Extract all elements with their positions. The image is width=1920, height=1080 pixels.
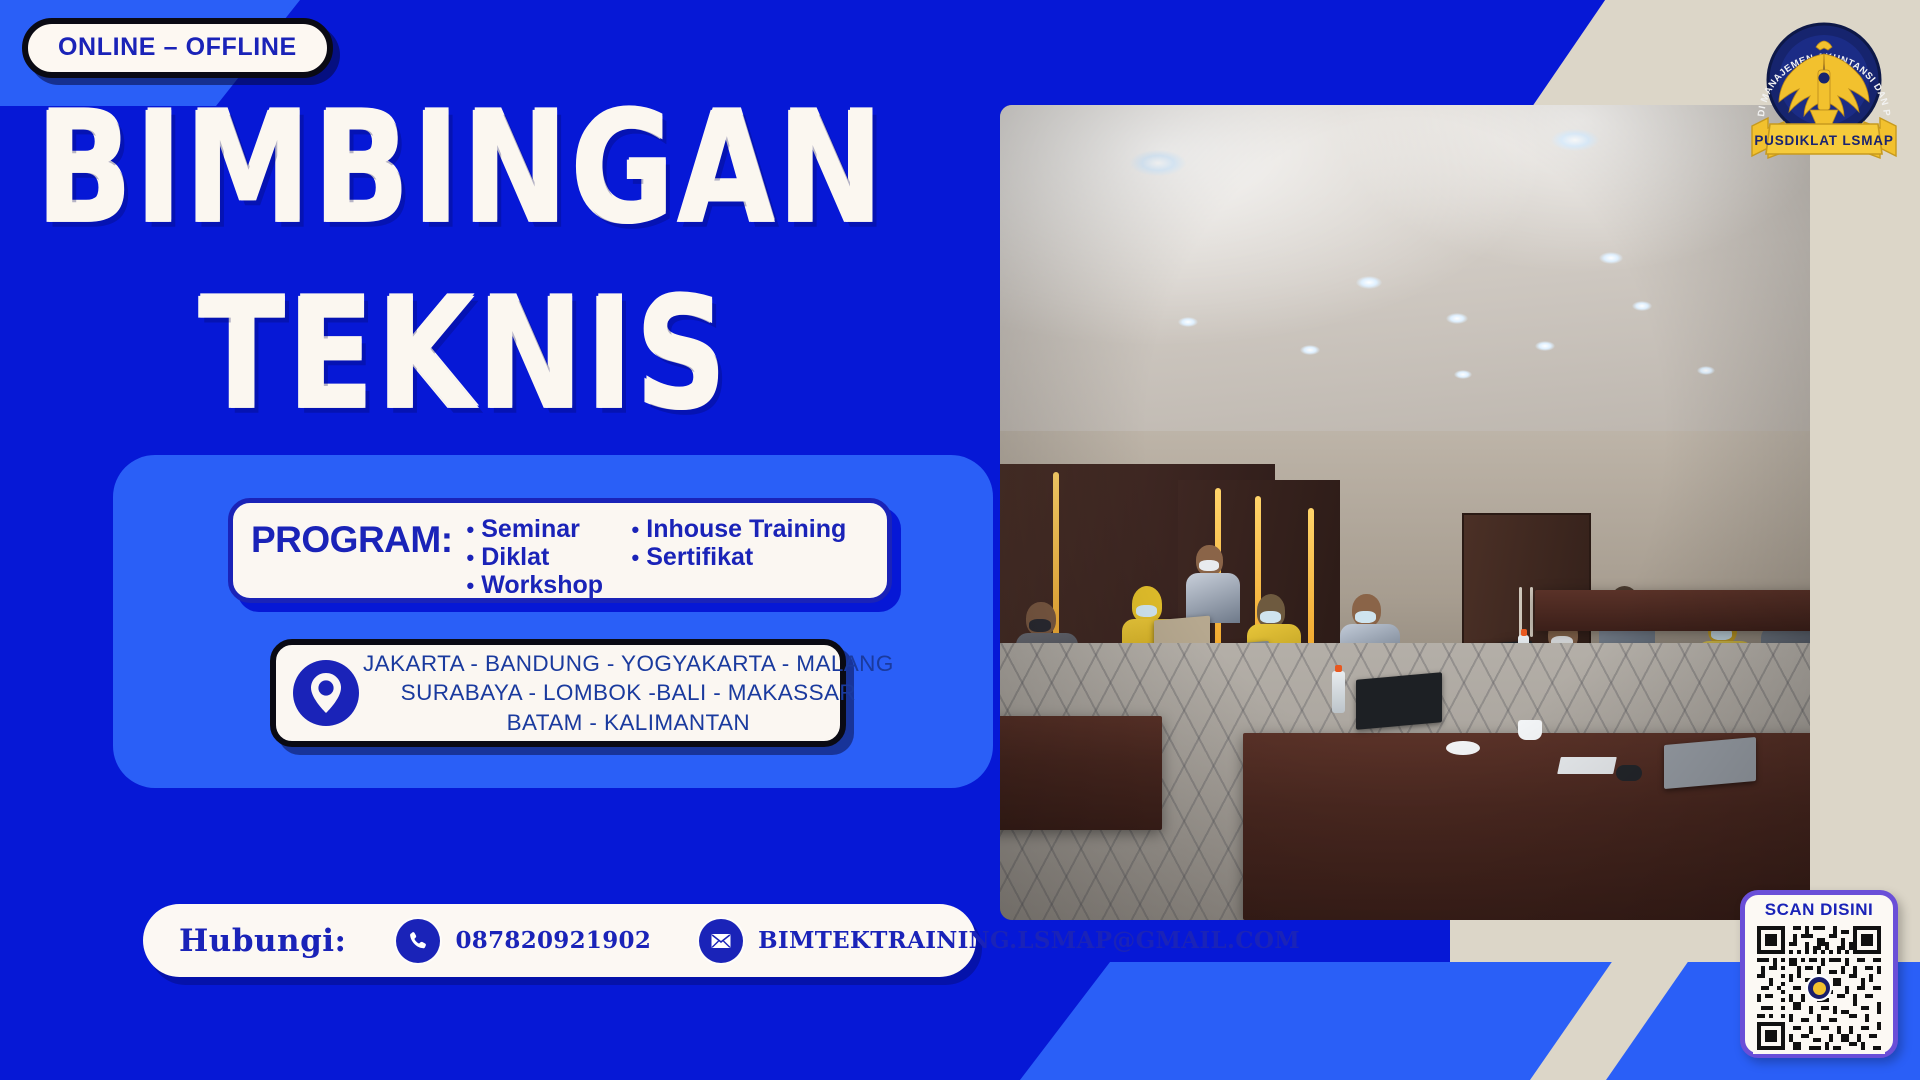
contact-bar: Hubungi: 087820921902 BIMTEKTRAINING.LSM…: [143, 904, 976, 977]
poster-canvas: ONLINE – OFFLINE BIMBINGAN TEKNIS PROGRA…: [0, 0, 1920, 1080]
program-item: •Workshop: [467, 572, 632, 600]
contact-label: Hubungi:: [179, 923, 346, 959]
program-item: •Seminar: [467, 516, 632, 544]
organization-logo: LEMBAGA STUDI MANAJEMEN AKUNTANSI DAN PE…: [1744, 14, 1904, 169]
location-lines: JAKARTA - BANDUNG - YOGYAKARTA - MALANG …: [359, 649, 906, 736]
program-item-label: Workshop: [481, 571, 603, 599]
contact-email[interactable]: BIMTEKTRAINING.LSMAP@GMAIL.COM: [699, 919, 1300, 963]
mode-badge-pill: ONLINE – OFFLINE: [22, 18, 333, 78]
program-item-label: Seminar: [481, 515, 580, 543]
location-line: BATAM - KALIMANTAN: [363, 708, 894, 737]
photo-vignette: [1000, 105, 1810, 920]
phone-icon: [396, 919, 440, 963]
qr-center-logo: [1806, 975, 1832, 1001]
location-line: JAKARTA - BANDUNG - YOGYAKARTA - MALANG: [363, 649, 894, 678]
program-column-1: •Seminar •Diklat •Workshop: [467, 516, 632, 599]
bullet-icon: •: [632, 545, 640, 570]
location-card: JAKARTA - BANDUNG - YOGYAKARTA - MALANG …: [270, 639, 846, 747]
mode-badge: ONLINE – OFFLINE: [22, 18, 333, 78]
program-item: •Inhouse Training: [632, 516, 887, 544]
program-item-label: Diklat: [481, 543, 549, 571]
program-item: •Diklat: [467, 544, 632, 572]
qr-card[interactable]: SCAN DISINI: [1740, 890, 1898, 1058]
bullet-icon: •: [467, 573, 475, 598]
qr-code-icon: [1753, 922, 1885, 1054]
program-item-label: Inhouse Training: [646, 515, 846, 543]
program-column-2: •Inhouse Training •Sertifikat: [632, 516, 887, 599]
logo-banner-text: PUSDIKLAT LSMAP: [1754, 133, 1893, 148]
bullet-icon: •: [467, 517, 475, 542]
training-room-photo: [1000, 105, 1810, 920]
mode-badge-label: ONLINE – OFFLINE: [58, 33, 297, 62]
qr-title: SCAN DISINI: [1745, 900, 1893, 920]
location-line: SURABAYA - LOMBOK -BALI - MAKASSAR: [363, 678, 894, 707]
program-item: •Sertifikat: [632, 544, 887, 572]
logo-banner: PUSDIKLAT LSMAP: [1752, 118, 1896, 158]
map-pin-icon: [293, 660, 359, 726]
bullet-icon: •: [467, 545, 475, 570]
program-item-label: Sertifikat: [646, 543, 753, 571]
contact-phone[interactable]: 087820921902: [396, 919, 651, 963]
program-label: PROGRAM:: [251, 521, 453, 558]
bullet-icon: •: [632, 517, 640, 542]
program-columns: •Seminar •Diklat •Workshop •Inhouse Trai…: [467, 516, 887, 599]
program-card: PROGRAM: •Seminar •Diklat •Workshop •Inh…: [228, 498, 892, 603]
contact-phone-number: 087820921902: [455, 927, 651, 954]
contact-email-address: BIMTEKTRAINING.LSMAP@GMAIL.COM: [758, 927, 1300, 954]
envelope-icon: [699, 919, 743, 963]
